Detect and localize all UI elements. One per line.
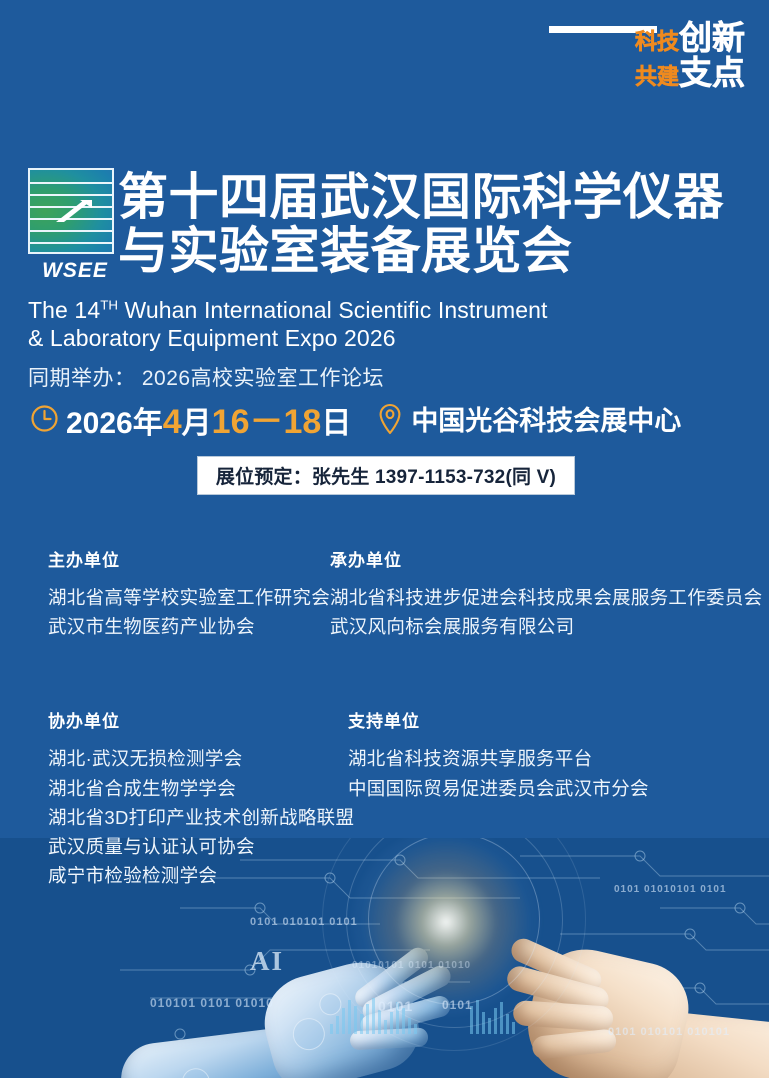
slogan-line-2: 共建 支点 <box>549 56 745 89</box>
event-day-unit: 日 <box>321 398 351 442</box>
campaign-slogan: 科技 创新 共建 支点 <box>549 26 745 89</box>
poster-title: 第十四届武汉国际科学仪器 与实验室装备展览会 <box>118 170 759 278</box>
ai-label: AI <box>250 946 284 977</box>
organizer-title: 主办单位 <box>48 546 330 571</box>
wsee-wordmark: WSEE <box>28 259 122 283</box>
venue-group: 中国光谷科技会展中心 <box>377 399 681 438</box>
organizer-item: 湖北省3D打印产业技术创新战略联盟 <box>48 803 348 832</box>
event-month-number: 4 <box>163 403 182 442</box>
organizer-sections: 主办单位 湖北省高等学校实验室工作研究会 武汉市生物医药产业协会 承办单位 湖北… <box>48 546 749 891</box>
organizer-item: 湖北·武汉无损检测学会 <box>48 744 348 773</box>
booth-reservation-text: 展位预定：张先生 1397-1153-732(同 V) <box>216 462 556 489</box>
binary-text: 0101 010101 0101 <box>250 916 358 928</box>
organizer-block-host: 主办单位 湖北省高等学校实验室工作研究会 武汉市生物医药产业协会 <box>48 546 330 641</box>
clock-icon <box>30 404 59 433</box>
title-line-1: 第十四届武汉国际科学仪器 <box>118 170 759 224</box>
binary-text: 010101 0101 01010 <box>150 996 274 1010</box>
organizer-item: 武汉市生物医药产业协会 <box>48 612 330 641</box>
binary-text: 0101 <box>442 998 473 1012</box>
organizer-title: 协办单位 <box>48 707 348 732</box>
event-year: 2026年 <box>66 398 163 442</box>
organizer-block-supporter: 支持单位 湖北省科技资源共享服务平台 中国国际贸易促进委员会武汉市分会 <box>348 707 749 890</box>
organizer-item: 湖北省科技进步促进会科技成果会展服务工作委员会 <box>330 583 762 612</box>
organizer-item: 武汉质量与认证认可协会 <box>48 832 348 861</box>
event-details-bar: 2026年4月16－18日 中国光谷科技会展中心 <box>30 394 681 443</box>
ordinal-suffix: TH <box>100 297 118 312</box>
organizer-item: 湖北省科技资源共享服务平台 <box>348 744 749 773</box>
event-day-range: 16－18 <box>212 394 322 443</box>
expo-poster: AI 0101 010101 0101 0101 0101 010101 010… <box>0 0 769 1078</box>
binary-text: 0101 <box>378 998 413 1014</box>
english-title-prefix: The 14 <box>28 297 100 323</box>
poster-subtitle: The 14TH Wuhan International Scientific … <box>28 296 753 392</box>
wsee-arrow-glyph <box>50 196 96 226</box>
english-title-rest: Wuhan International Scientific Instrumen… <box>118 297 548 323</box>
slogan-line-1: 科技 创新 <box>549 21 745 54</box>
title-line-2: 与实验室装备展览会 <box>118 224 759 278</box>
organizer-title: 承办单位 <box>330 546 762 571</box>
organizer-item: 湖北省高等学校实验室工作研究会 <box>48 583 330 612</box>
english-title-line-2: & Laboratory Equipment Expo 2026 <box>28 324 753 352</box>
slogan-zhidian: 支点 <box>679 56 745 89</box>
booth-reservation-box[interactable]: 展位预定：张先生 1397-1153-732(同 V) <box>197 456 575 495</box>
concurrent-forum-line: 同期举办： 2026高校实验室工作论坛 <box>28 362 753 392</box>
organizer-title: 支持单位 <box>348 707 749 732</box>
organizer-block-organizer: 承办单位 湖北省科技进步促进会科技成果会展服务工作委员会 武汉风向标会展服务有限… <box>330 546 762 641</box>
organizer-item: 中国国际贸易促进委员会武汉市分会 <box>348 774 749 803</box>
organizer-item: 咸宁市检验检测学会 <box>48 861 348 890</box>
event-date: 2026年4月16－18日 <box>66 394 351 443</box>
organizer-block-coorganizer: 协办单位 湖北·武汉无损检测学会 湖北省合成生物学学会 湖北省3D打印产业技术创… <box>48 707 348 890</box>
organizer-item: 武汉风向标会展服务有限公司 <box>330 612 762 641</box>
english-title-line-1: The 14TH Wuhan International Scientific … <box>28 296 753 324</box>
slogan-keji: 科技 <box>635 31 679 53</box>
organizer-item: 湖北省合成生物学学会 <box>48 774 348 803</box>
organizer-row: 协办单位 湖北·武汉无损检测学会 湖北省合成生物学学会 湖北省3D打印产业技术创… <box>48 707 749 890</box>
wsee-mark-icon <box>28 168 114 254</box>
slogan-gongjian: 共建 <box>635 66 679 88</box>
binary-text: 01010101 0101 01010 <box>352 960 471 971</box>
slogan-chuangxin: 创新 <box>679 21 745 54</box>
location-pin-icon <box>377 403 403 435</box>
event-venue: 中国光谷科技会展中心 <box>411 399 681 438</box>
binary-text: 0101 010101 010101 <box>608 1026 730 1038</box>
event-month-unit: 月 <box>182 398 212 442</box>
organizer-row: 主办单位 湖北省高等学校实验室工作研究会 武汉市生物医药产业协会 承办单位 湖北… <box>48 546 749 641</box>
wsee-logo: WSEE <box>28 168 122 283</box>
waveform-bars <box>470 1000 515 1034</box>
